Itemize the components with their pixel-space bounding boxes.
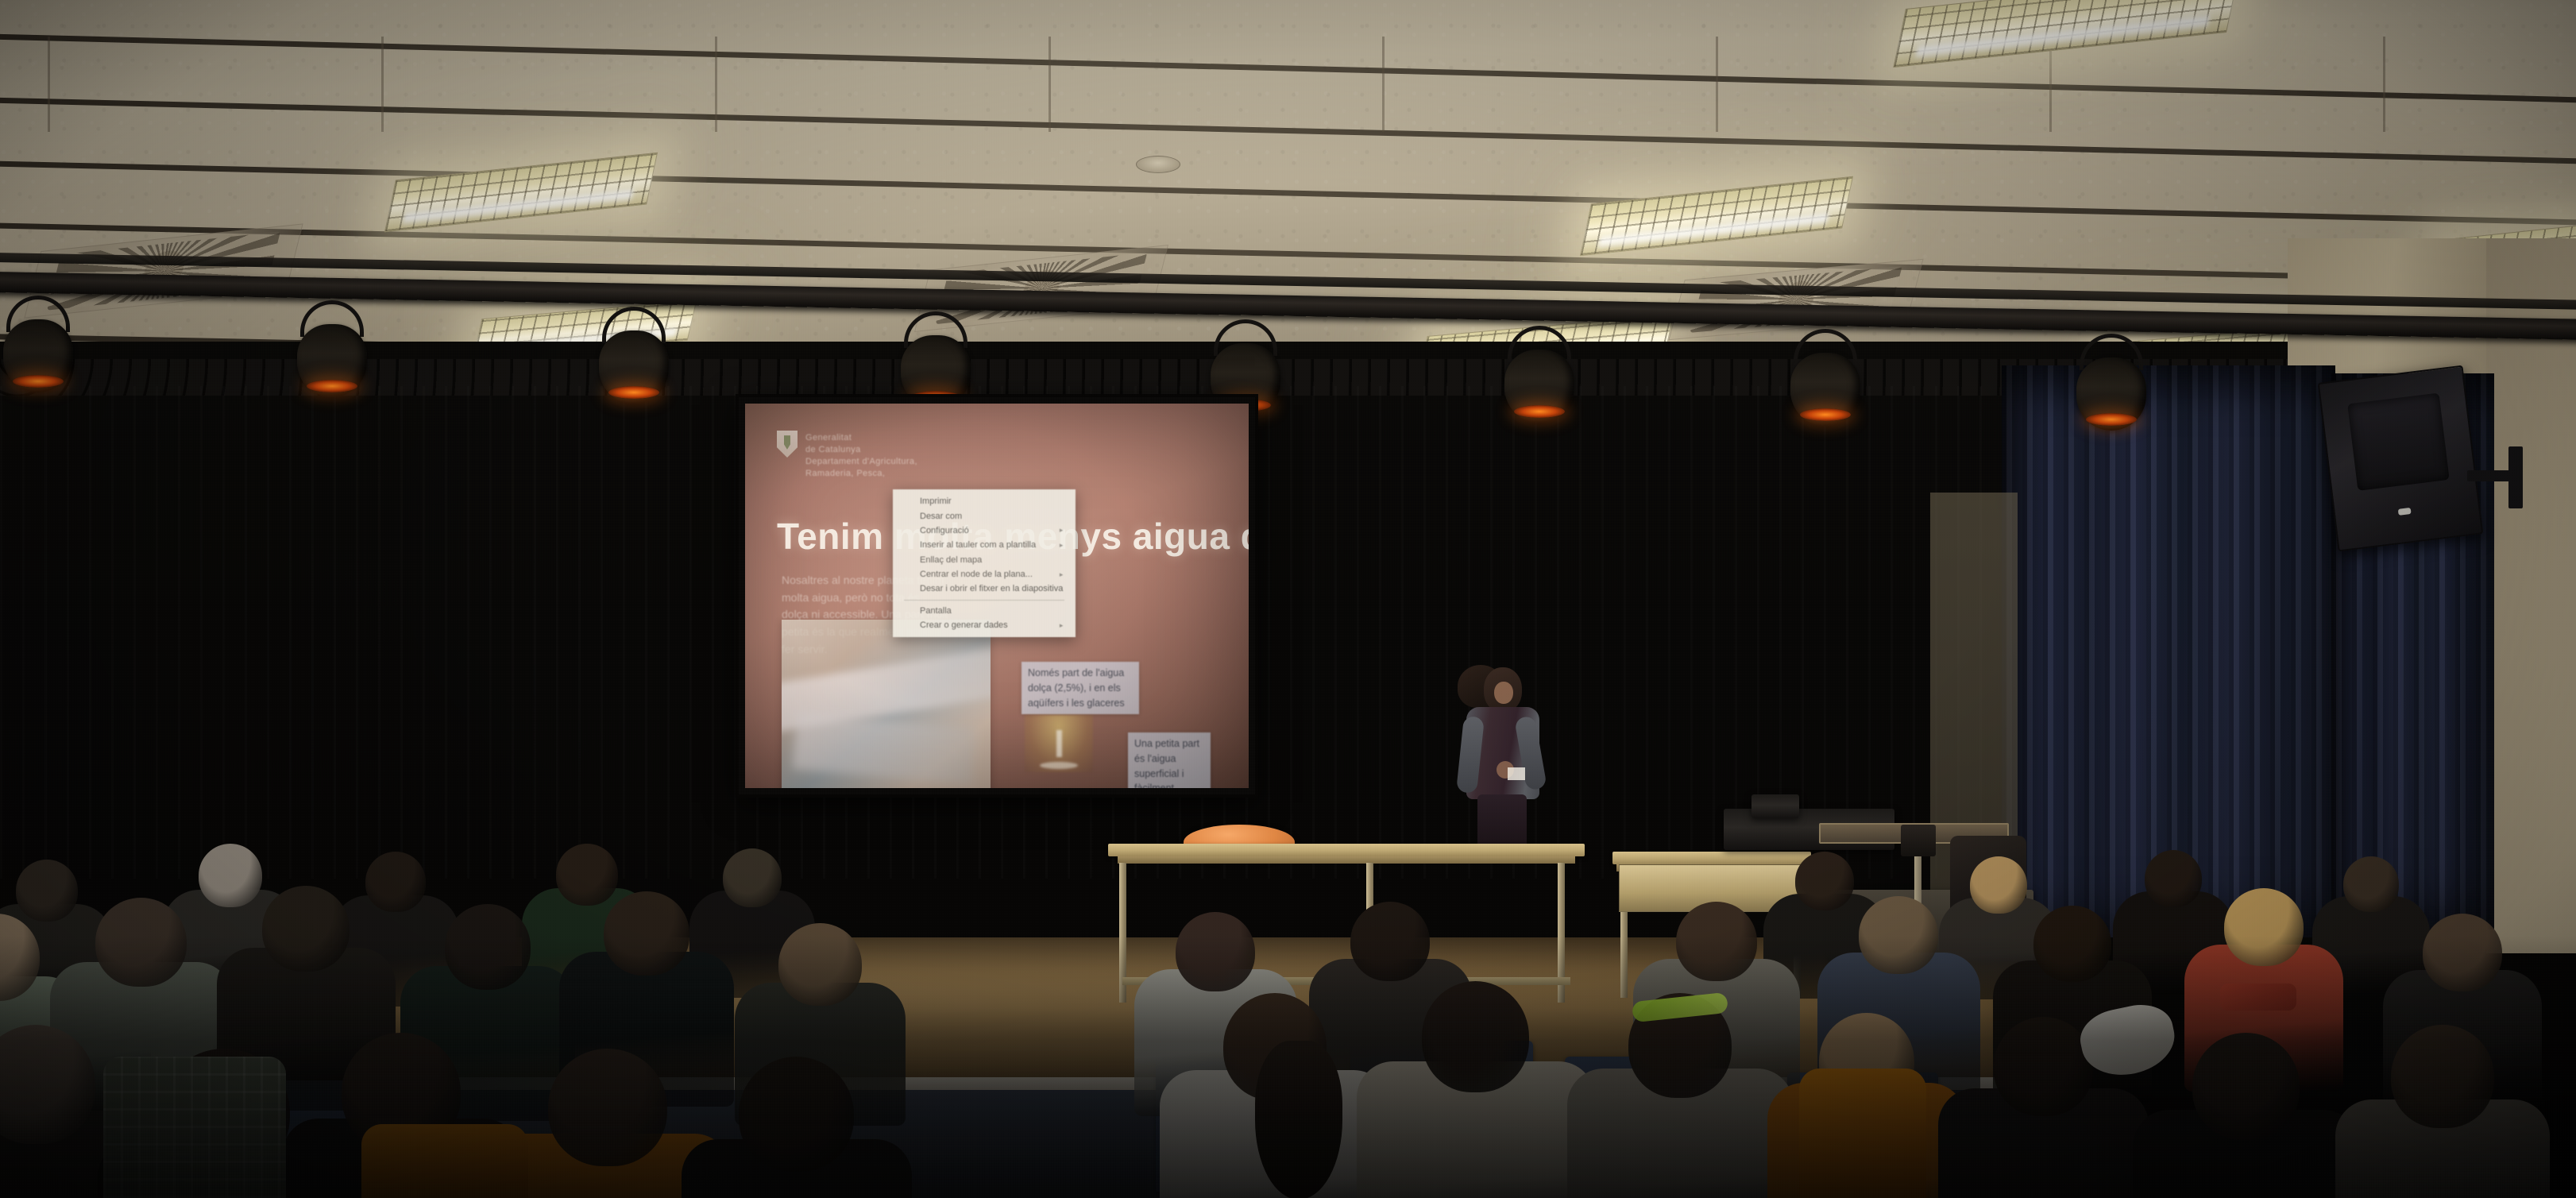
audience-member-head bbox=[2343, 856, 2399, 912]
speaker-bracket-plate bbox=[2508, 446, 2523, 508]
menu-item-label: Configuració bbox=[920, 526, 969, 535]
audience-member-head bbox=[2423, 914, 2502, 991]
par-can-lens bbox=[608, 386, 659, 399]
menu-item-2[interactable]: Desar com bbox=[893, 508, 1076, 523]
par-can-6 bbox=[1501, 340, 1578, 432]
par-can-lens bbox=[2086, 413, 2137, 426]
audience-member-head bbox=[16, 860, 78, 922]
audience-member-head bbox=[1350, 902, 1430, 981]
slide-logo-text: Generalitat de Catalunya Departament d'A… bbox=[805, 431, 917, 478]
presenter-lower-body bbox=[1477, 794, 1527, 850]
submenu-arrow-icon: ▸ bbox=[1041, 570, 1064, 579]
par-can-2 bbox=[294, 315, 370, 407]
slide-context-menu[interactable]: ImprimirDesar comConfiguració▸Inserir al… bbox=[893, 489, 1076, 637]
par-can-body bbox=[297, 324, 367, 397]
audience-member-head bbox=[1795, 852, 1854, 910]
ceiling-cross-tee bbox=[1716, 37, 1718, 132]
par-can-body bbox=[1790, 353, 1860, 426]
audience-member-head bbox=[556, 844, 618, 906]
table-left-apron bbox=[1118, 856, 1575, 864]
person-plaid-shirt-accent bbox=[103, 1057, 286, 1198]
audience-member-head bbox=[1970, 856, 2027, 914]
menu-item-5[interactable]: Enllaç del mapa bbox=[893, 553, 1076, 567]
par-can-body bbox=[2076, 357, 2146, 431]
wall-mounted-pa-speaker bbox=[2318, 365, 2484, 552]
audience-member-head bbox=[778, 923, 862, 1006]
glass-foot bbox=[1040, 762, 1078, 769]
audience-member-head bbox=[2391, 1025, 2494, 1128]
presenter-head bbox=[1484, 667, 1522, 712]
person-blonde-red-scarf-accent bbox=[2220, 984, 2296, 1011]
person-white-jacket-ponytail-hair bbox=[1255, 1041, 1342, 1198]
par-can-body bbox=[599, 330, 669, 404]
audience-member-head bbox=[1176, 912, 1255, 991]
audience-member-head bbox=[262, 886, 350, 972]
presenter-badge bbox=[1508, 767, 1525, 780]
par-can-7 bbox=[1787, 343, 1863, 435]
logo-line-1: Generalitat bbox=[805, 433, 917, 442]
glass-stem bbox=[1056, 730, 1062, 758]
menu-item-label: Enllaç del mapa bbox=[920, 555, 982, 565]
audience-member-head bbox=[2224, 888, 2304, 966]
table-right-top bbox=[1612, 852, 1811, 864]
audience-member-head bbox=[548, 1049, 667, 1166]
audience-member-head bbox=[2145, 850, 2202, 907]
right-corner-pillar bbox=[2486, 238, 2576, 953]
ceiling-cross-tee bbox=[2383, 37, 2385, 132]
generalitat-shield-logo-icon bbox=[777, 431, 798, 458]
projection-screen-frame: Generalitat de Catalunya Departament d'A… bbox=[739, 397, 1255, 794]
person-orange-jacket-1 bbox=[361, 1124, 528, 1198]
speaker-cone bbox=[2348, 393, 2450, 490]
ceiling-cross-tee bbox=[1382, 37, 1385, 132]
audience-member-head bbox=[1859, 896, 1938, 974]
menu-item-6[interactable]: Centrar el node de la plana...▸ bbox=[893, 567, 1076, 582]
menu-item-1[interactable]: Imprimir bbox=[893, 494, 1076, 508]
menu-item-label: Crear o generar dades bbox=[920, 620, 1008, 630]
audience-member-head bbox=[199, 844, 262, 907]
par-can-body bbox=[1504, 350, 1574, 423]
audience-member-head bbox=[2192, 1033, 2300, 1140]
menu-item-label: Centrar el node de la plana... bbox=[920, 570, 1033, 579]
audience-member-head bbox=[604, 891, 689, 976]
ceiling-cross-tee bbox=[715, 37, 717, 132]
menu-item-label: Inserir al tauler com a plantilla bbox=[920, 540, 1036, 550]
audience-member-head bbox=[365, 852, 426, 912]
menu-item-7[interactable]: Desar i obrir el fitxer en la diapositiv… bbox=[893, 582, 1076, 596]
par-can-lens bbox=[13, 375, 64, 388]
person-orange-jacket-2 bbox=[1799, 1069, 1926, 1198]
light-stand-head bbox=[1901, 825, 1936, 856]
audience-member-head bbox=[1676, 902, 1757, 981]
audience-member-head bbox=[445, 904, 531, 990]
par-can-8 bbox=[2073, 348, 2149, 440]
ceiling-cross-tee bbox=[381, 37, 384, 132]
ceiling-cross-tee bbox=[48, 37, 50, 132]
audience-member-head bbox=[95, 898, 187, 987]
callout-accessible: Una petita part és l'aigua superficial i… bbox=[1128, 732, 1211, 788]
audience-member-head bbox=[723, 848, 782, 907]
ceiling-cross-tee bbox=[1049, 37, 1051, 132]
projection-screen-surface: Generalitat de Catalunya Departament d'A… bbox=[745, 404, 1249, 788]
smoke-detector-icon bbox=[1136, 156, 1180, 173]
audience-member-head bbox=[739, 1057, 854, 1172]
logo-line-2: de Catalunya bbox=[805, 445, 917, 454]
menu-item-9[interactable]: Crear o generar dades▸ bbox=[893, 618, 1076, 632]
menu-item-label: Pantalla bbox=[920, 606, 952, 616]
par-can-body bbox=[3, 319, 73, 392]
par-can-lens bbox=[1800, 408, 1851, 421]
menu-item-8[interactable]: Pantalla bbox=[893, 604, 1076, 618]
logo-line-3: Departament d'Agricultura, bbox=[805, 457, 917, 466]
slide-illustration-glass bbox=[1025, 715, 1093, 772]
callout-freshwater: Només part de l'aigua dolça (2,5%), i en… bbox=[1022, 662, 1139, 714]
audience-member-head bbox=[1994, 1017, 2093, 1116]
menu-item-label: Imprimir bbox=[920, 497, 952, 506]
submenu-arrow-icon: ▸ bbox=[1041, 541, 1064, 550]
slide-logo: Generalitat de Catalunya Departament d'A… bbox=[777, 431, 917, 478]
menu-item-3[interactable]: Configuració▸ bbox=[893, 524, 1076, 538]
menu-item-label: Desar i obrir el fitxer en la diapositiv… bbox=[920, 584, 1063, 593]
audience-member-head bbox=[1422, 981, 1529, 1092]
par-can-3 bbox=[596, 321, 672, 413]
menu-item-4[interactable]: Inserir al tauler com a plantilla▸ bbox=[893, 538, 1076, 552]
par-can-lens bbox=[307, 380, 357, 392]
submenu-arrow-icon: ▸ bbox=[1041, 621, 1064, 630]
submenu-arrow-icon: ▸ bbox=[1041, 526, 1064, 535]
audience-member-head bbox=[2033, 906, 2111, 982]
par-can-lens bbox=[1514, 405, 1565, 418]
logo-line-4: Ramaderia, Pesca, bbox=[805, 469, 917, 478]
table-left-top bbox=[1108, 844, 1585, 856]
par-can-1 bbox=[0, 310, 76, 402]
menu-separator bbox=[904, 600, 1064, 601]
auditorium-photo-scene: Generalitat de Catalunya Departament d'A… bbox=[0, 0, 2576, 1198]
presenter-face bbox=[1494, 682, 1513, 704]
slide-photo-glacier bbox=[782, 620, 991, 788]
speaker-led-indicator bbox=[2398, 508, 2412, 516]
av-equipment-module bbox=[1751, 794, 1799, 818]
menu-item-label: Desar com bbox=[920, 512, 962, 521]
